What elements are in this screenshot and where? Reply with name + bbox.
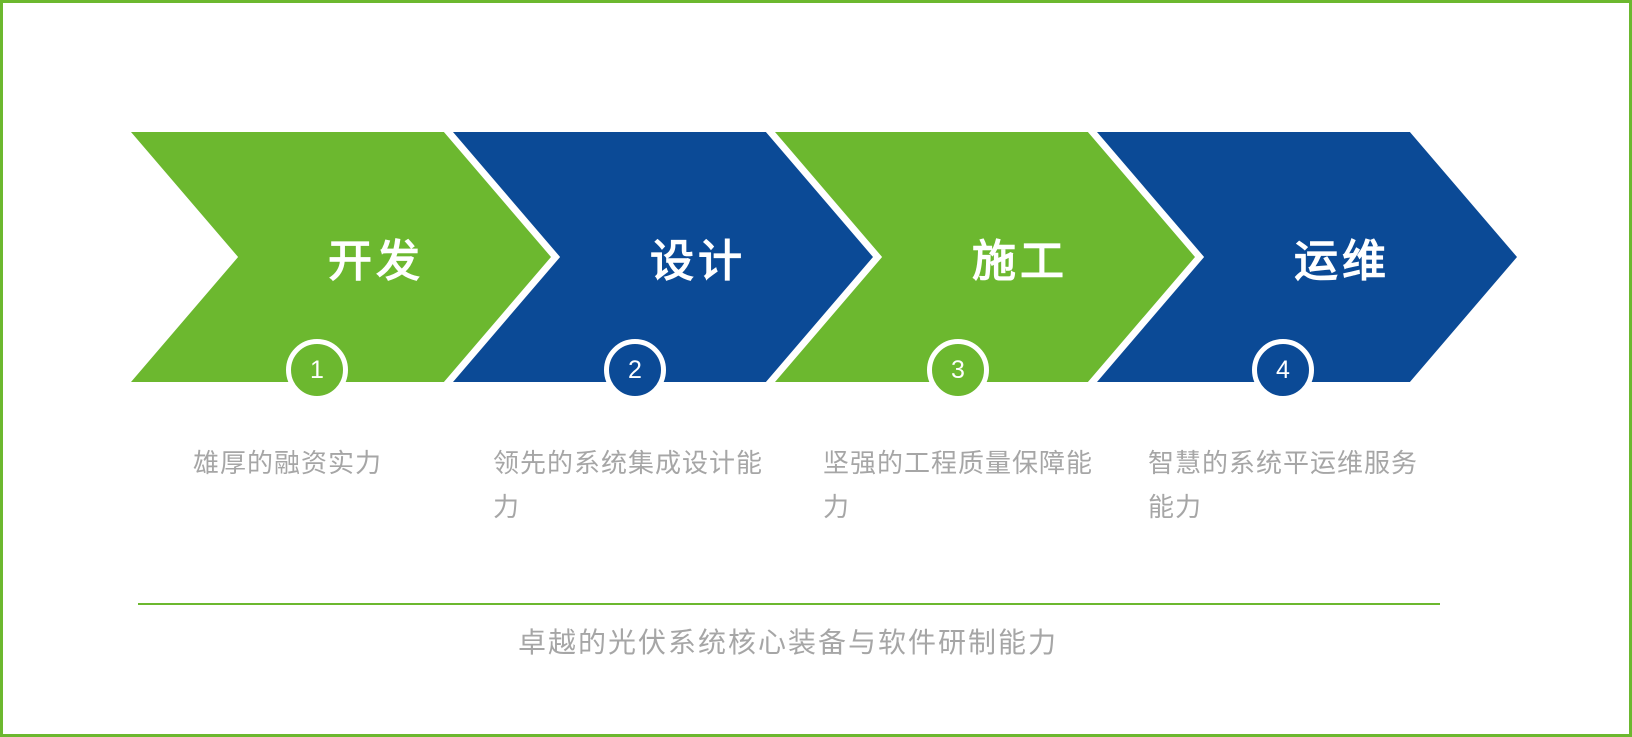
- step-description-2: 领先的系统集成设计能力: [493, 441, 773, 529]
- footer-divider-line: [138, 603, 1440, 605]
- step-number-circle-4[interactable]: 4: [1252, 339, 1314, 401]
- step-number-circle-3[interactable]: 3: [927, 339, 989, 401]
- slide-canvas: 开发 1 雄厚的融资实力 设计 2 领先的系统集成设计能力 施工 3 坚强的工程…: [0, 0, 1632, 737]
- step-number-label-1: 1: [310, 356, 324, 385]
- step-number-label-3: 3: [951, 356, 965, 385]
- step-number-circle-2[interactable]: 2: [604, 339, 666, 401]
- step-description-3: 坚强的工程质量保障能力: [823, 441, 1103, 529]
- footer-caption: 卓越的光伏系统核心装备与软件研制能力: [3, 607, 1573, 679]
- step-number-label-4: 4: [1276, 356, 1290, 385]
- chevron-title-4: 运维: [1097, 132, 1517, 382]
- step-number-circle-1[interactable]: 1: [286, 339, 348, 401]
- step-description-4: 智慧的系统平运维服务能力: [1148, 441, 1428, 529]
- step-number-label-2: 2: [628, 356, 642, 385]
- step-description-1: 雄厚的融资实力: [193, 441, 473, 485]
